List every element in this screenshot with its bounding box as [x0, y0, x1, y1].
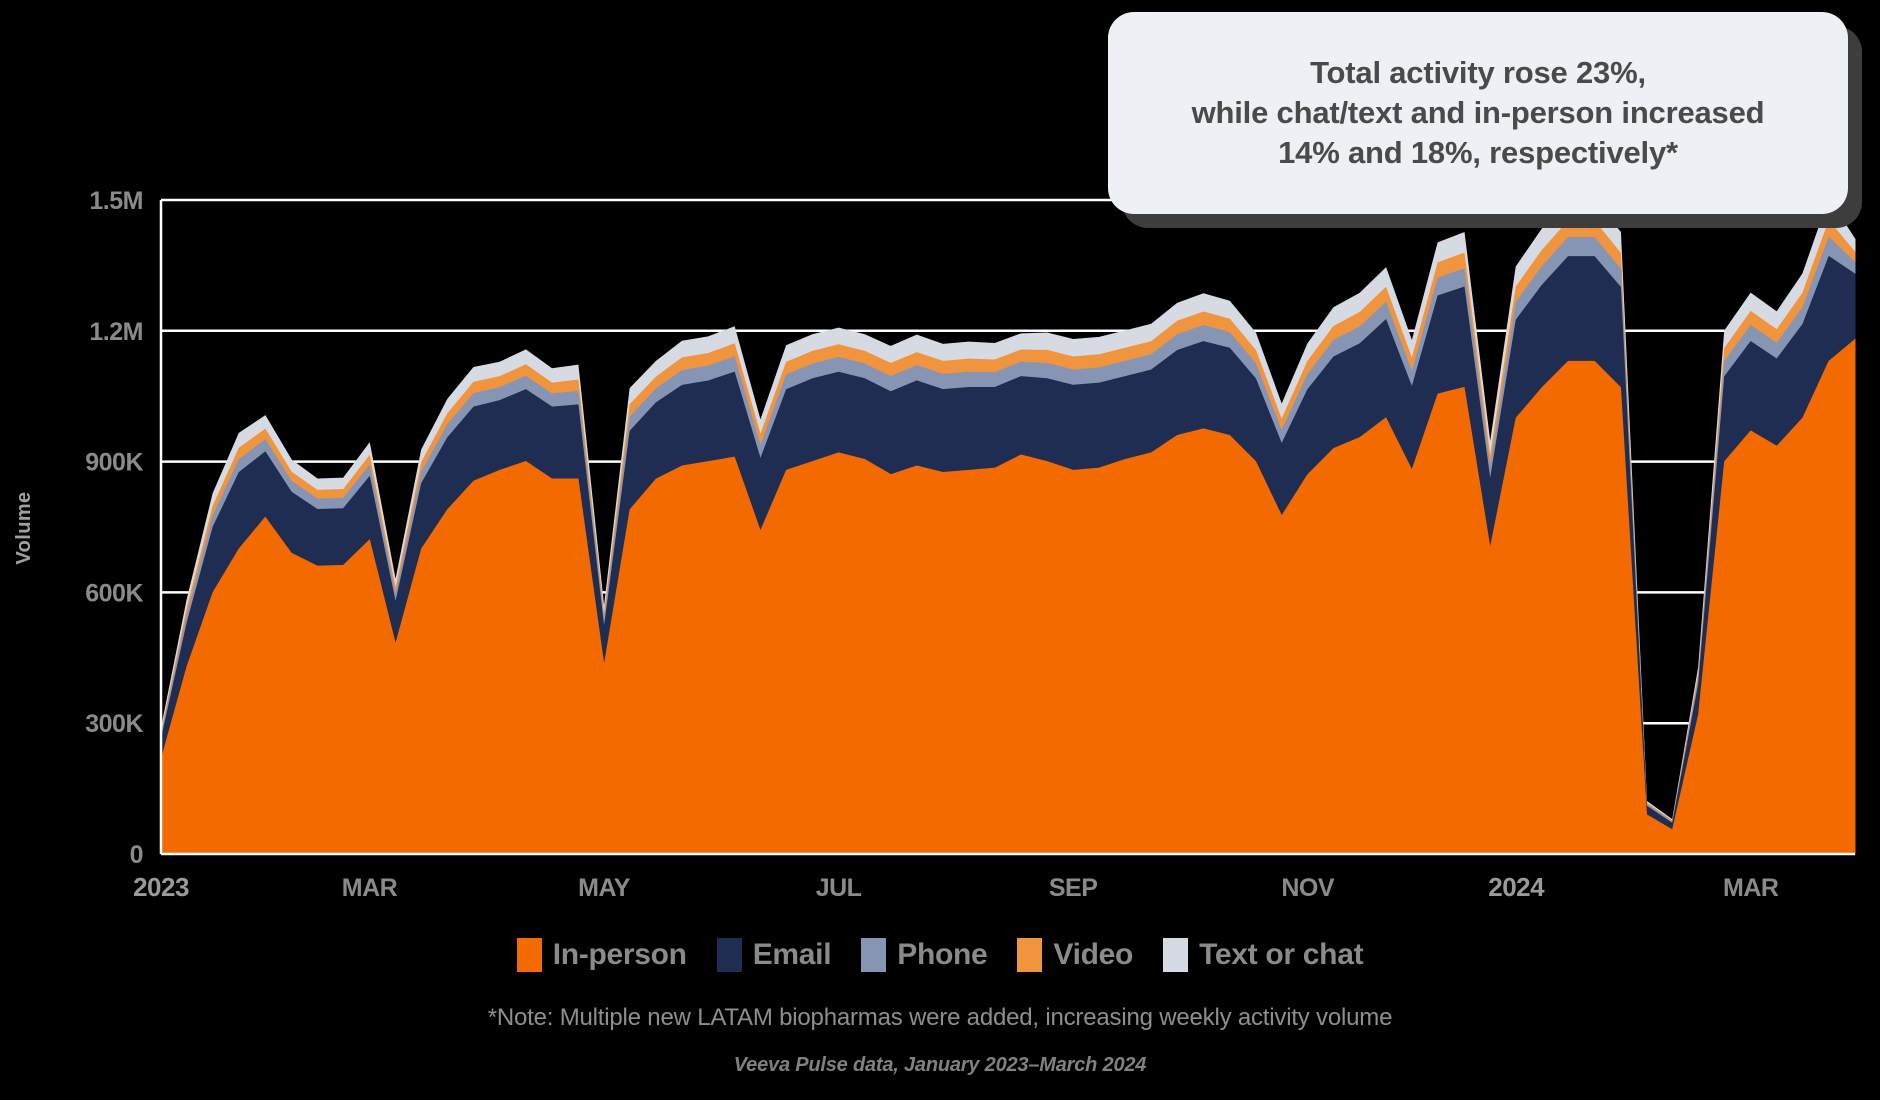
legend-label: In-person: [553, 938, 687, 972]
x-tick-label: MAR: [1723, 874, 1779, 902]
x-tick-label: 2023: [133, 872, 189, 902]
y-tick-label: 600K: [85, 579, 143, 607]
legend-label: Email: [753, 938, 832, 972]
legend-swatch-icon: [717, 938, 742, 972]
legend-swatch-icon: [517, 938, 542, 972]
footnote-note: *Note: Multiple new LATAM biopharmas wer…: [0, 1004, 1880, 1032]
legend-item-video[interactable]: Video: [1017, 938, 1133, 972]
legend-swatch-icon: [861, 938, 886, 972]
x-tick-label: NOV: [1281, 874, 1335, 902]
legend-item-in-person[interactable]: In-person: [517, 938, 687, 972]
y-tick-label: 300K: [85, 710, 143, 738]
legend-item-phone[interactable]: Phone: [861, 938, 987, 972]
y-tick-label: 1.2M: [89, 318, 143, 346]
chart-page: 0300K600K900K1.2M1.5M 2023MARMAYJULSEPNO…: [0, 0, 1880, 1100]
footnote-source: Veeva Pulse data, January 2023–March 202…: [0, 1054, 1880, 1077]
y-tick-label: 0: [130, 841, 143, 869]
callout-text: Total activity rose 23%, while chat/text…: [1166, 53, 1791, 174]
legend-label: Video: [1053, 938, 1133, 972]
x-tick-label: MAY: [578, 874, 631, 902]
x-tick-label: 2024: [1488, 872, 1545, 902]
chart-legend: In-personEmailPhoneVideoText or chat: [0, 938, 1880, 972]
legend-swatch-icon: [1163, 938, 1188, 972]
y-tick-label: 900K: [85, 449, 143, 477]
legend-label: Text or chat: [1199, 938, 1363, 972]
legend-item-email[interactable]: Email: [717, 938, 832, 972]
legend-item-text-or-chat[interactable]: Text or chat: [1163, 938, 1363, 972]
legend-label: Phone: [897, 938, 987, 972]
area-series-group: [161, 199, 1855, 854]
x-axis-tick-labels: 2023MARMAYJULSEPNOV2024MAR: [133, 872, 1779, 902]
y-axis-tick-labels: 0300K600K900K1.2M1.5M: [85, 187, 143, 869]
y-tick-label: 1.5M: [89, 187, 143, 215]
x-tick-label: SEP: [1049, 874, 1098, 902]
x-tick-label: MAR: [342, 874, 398, 902]
legend-swatch-icon: [1017, 938, 1042, 972]
y-axis-title-group: Volume: [13, 491, 35, 564]
callout-box: Total activity rose 23%, while chat/text…: [1108, 12, 1848, 214]
y-axis-title: Volume: [13, 491, 35, 564]
x-tick-label: JUL: [816, 874, 862, 902]
